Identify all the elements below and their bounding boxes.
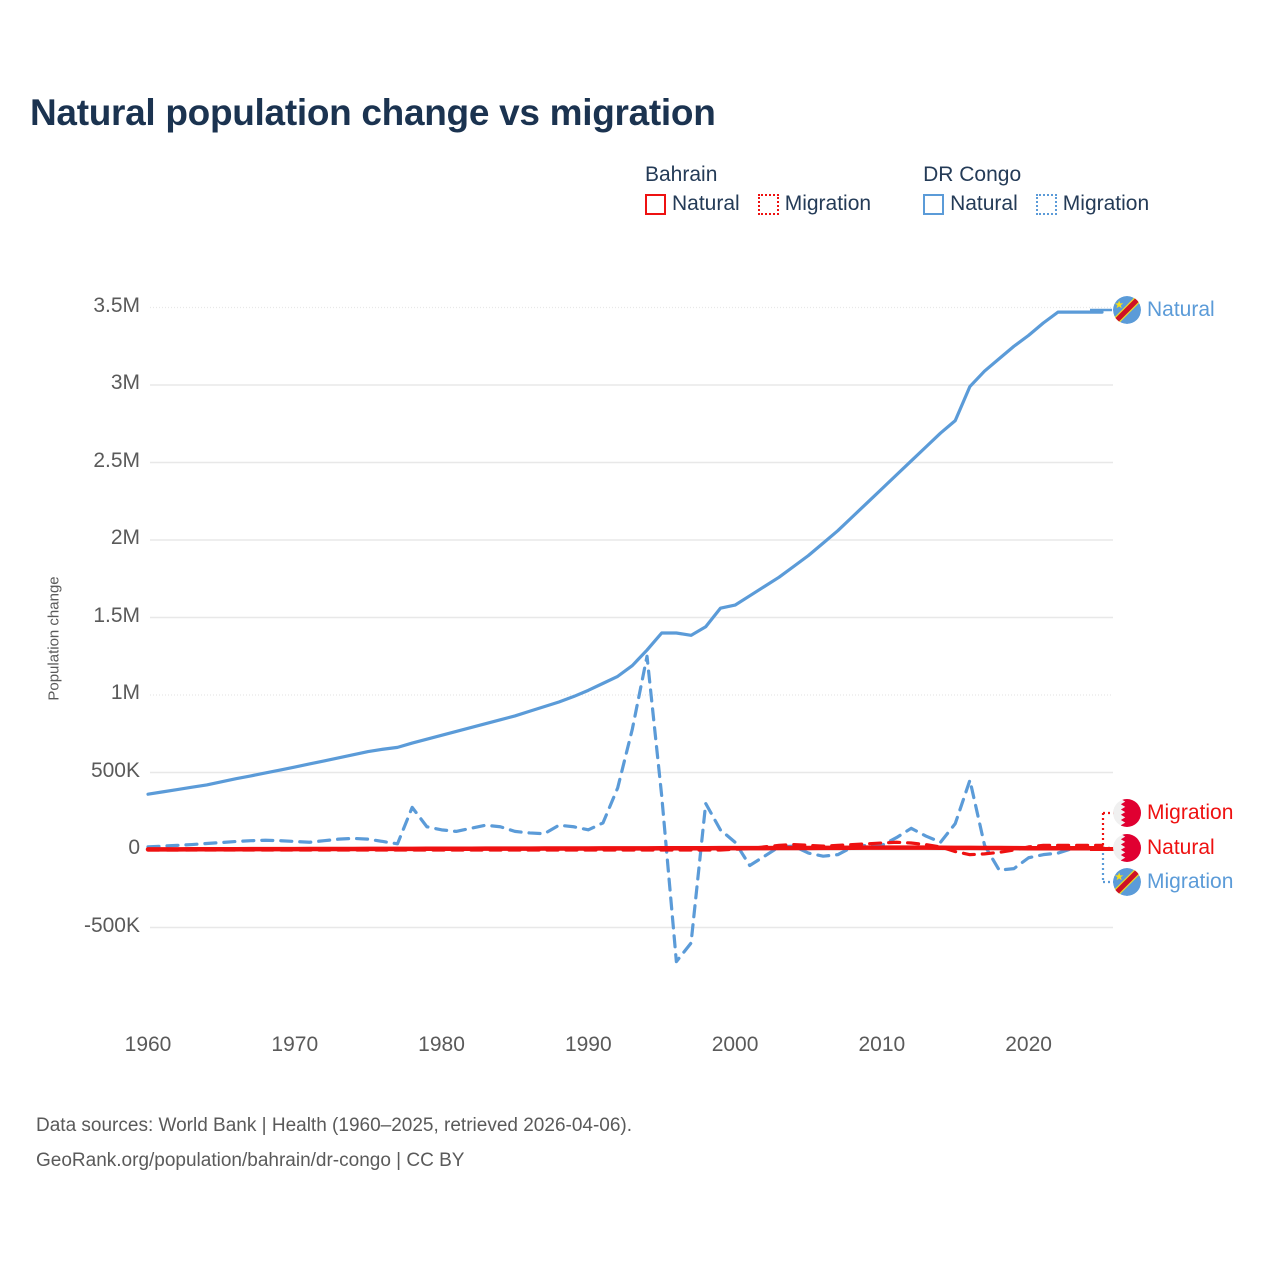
footer: Data sources: World Bank | Health (1960–… xyxy=(36,1108,632,1178)
x-axis-tick-label: 1960 xyxy=(125,1033,172,1057)
end-label-text: Natural xyxy=(1147,298,1215,322)
y-axis-tick-label: 3.5M xyxy=(20,294,140,318)
x-axis-tick-label: 1980 xyxy=(418,1033,465,1057)
x-axis-tick-label: 2010 xyxy=(858,1033,905,1057)
dr-congo-flag-icon xyxy=(1113,868,1141,896)
y-axis-tick-label: 1.5M xyxy=(20,604,140,628)
end-label-bahrain-natural[interactable]: Natural xyxy=(1113,834,1215,862)
x-axis-tick-label: 1990 xyxy=(565,1033,612,1057)
x-axis-tick-label: 1970 xyxy=(271,1033,318,1057)
bahrain-flag-icon xyxy=(1113,799,1141,827)
chart-root: Natural population change vs migration B… xyxy=(0,0,1280,1280)
end-label-text: Natural xyxy=(1147,836,1215,860)
y-axis-tick-label: 1M xyxy=(20,681,140,705)
y-axis-tick-label: 2M xyxy=(20,526,140,550)
end-label-dr-congo-migration[interactable]: Migration xyxy=(1113,868,1233,896)
y-axis-tick-label: -500K xyxy=(20,914,140,938)
series-line-dr-congo-migration xyxy=(148,656,1102,961)
dr-congo-flag-icon xyxy=(1113,296,1141,324)
y-axis-tick-label: 500K xyxy=(20,759,140,783)
bahrain-flag-icon xyxy=(1113,834,1141,862)
end-label-dr-congo-natural[interactable]: Natural xyxy=(1113,296,1215,324)
end-label-bahrain-migration[interactable]: Migration xyxy=(1113,799,1233,827)
plot-area xyxy=(0,0,1280,1280)
footer-data-sources: Data sources: World Bank | Health (1960–… xyxy=(36,1108,632,1143)
end-label-text: Migration xyxy=(1147,870,1233,894)
y-axis-tick-label: 2.5M xyxy=(20,449,140,473)
footer-attribution: GeoRank.org/population/bahrain/dr-congo … xyxy=(36,1143,632,1178)
end-label-text: Migration xyxy=(1147,801,1233,825)
y-axis-tick-label: 3M xyxy=(20,371,140,395)
x-axis-tick-label: 2000 xyxy=(712,1033,759,1057)
y-axis-tick-label: 0 xyxy=(20,836,140,860)
x-axis-tick-label: 2020 xyxy=(1005,1033,1052,1057)
